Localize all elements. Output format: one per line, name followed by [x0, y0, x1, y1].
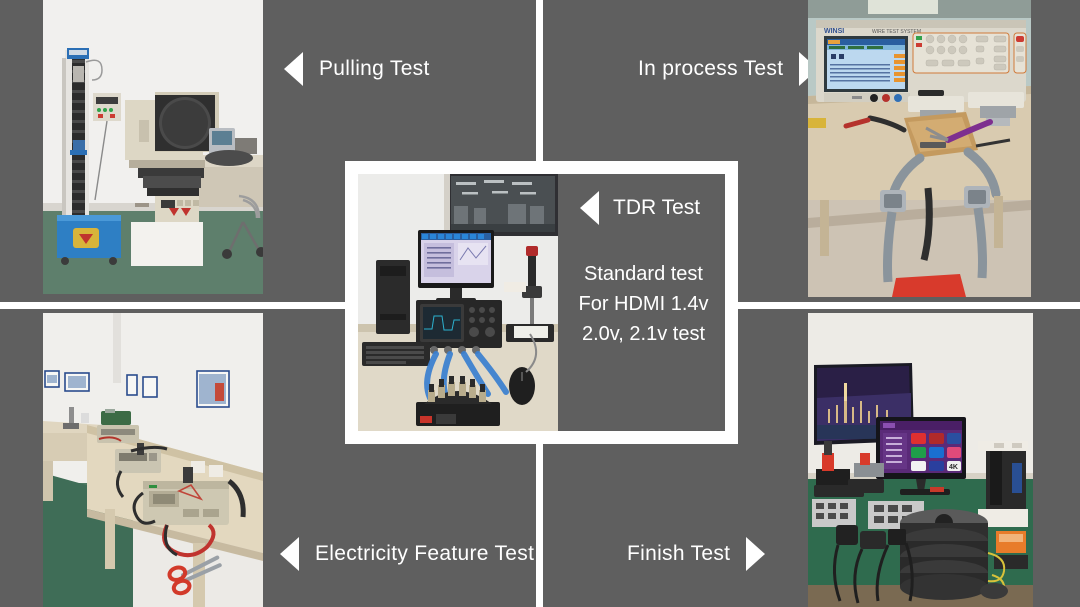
svg-text:WINSI: WINSI: [824, 28, 844, 35]
arrow-left-icon: [284, 52, 303, 86]
panel-label-pulling-test: Pulling Test: [319, 57, 430, 81]
svg-text:4K: 4K: [949, 464, 958, 471]
arrow-left-icon: [580, 191, 599, 225]
pulling-test-scene: [43, 0, 263, 294]
in-process-test-scene: WINSI WIRE TEST SYSTEM: [808, 0, 1031, 297]
panel-label-electricity-feature-test: Electricity Feature Test: [315, 542, 534, 566]
photo-electricity-feature-test: [43, 313, 263, 607]
center-card-inner: TDR Test Standard test For HDMI 1.4v 2.0…: [358, 174, 725, 431]
photo-tdr-test: [358, 174, 558, 431]
tdr-test-scene: [358, 174, 558, 431]
description-line-1: Standard test: [570, 259, 717, 289]
caption-electricity-feature-test: Electricity Feature Test: [280, 537, 534, 571]
caption-in-process-test: In process Test: [638, 52, 818, 86]
center-label-tdr-test: TDR Test: [613, 196, 700, 220]
caption-finish-test: Finish Test: [627, 537, 765, 571]
center-text-column: TDR Test Standard test For HDMI 1.4v 2.0…: [558, 174, 725, 431]
panel-label-in-process-test: In process Test: [638, 57, 783, 81]
photo-pulling-test: [43, 0, 263, 294]
caption-pulling-test: Pulling Test: [284, 52, 430, 86]
center-description: Standard test For HDMI 1.4v 2.0v, 2.1v t…: [570, 259, 717, 349]
description-line-2: For HDMI 1.4v: [570, 289, 717, 319]
collage-stage: Pulling Test In process Test: [0, 0, 1080, 607]
arrow-left-icon: [280, 537, 299, 571]
finish-test-scene: 4K: [808, 313, 1033, 607]
caption-tdr-test: TDR Test: [580, 191, 700, 225]
photo-finish-test: 4K: [808, 313, 1033, 607]
arrow-right-icon: [746, 537, 765, 571]
photo-in-process-test: WINSI WIRE TEST SYSTEM: [808, 0, 1031, 297]
electricity-feature-test-scene: [43, 313, 263, 607]
panel-label-finish-test: Finish Test: [627, 542, 730, 566]
description-line-3: 2.0v, 2.1v test: [570, 319, 717, 349]
center-card-tdr-test[interactable]: TDR Test Standard test For HDMI 1.4v 2.0…: [345, 161, 738, 444]
